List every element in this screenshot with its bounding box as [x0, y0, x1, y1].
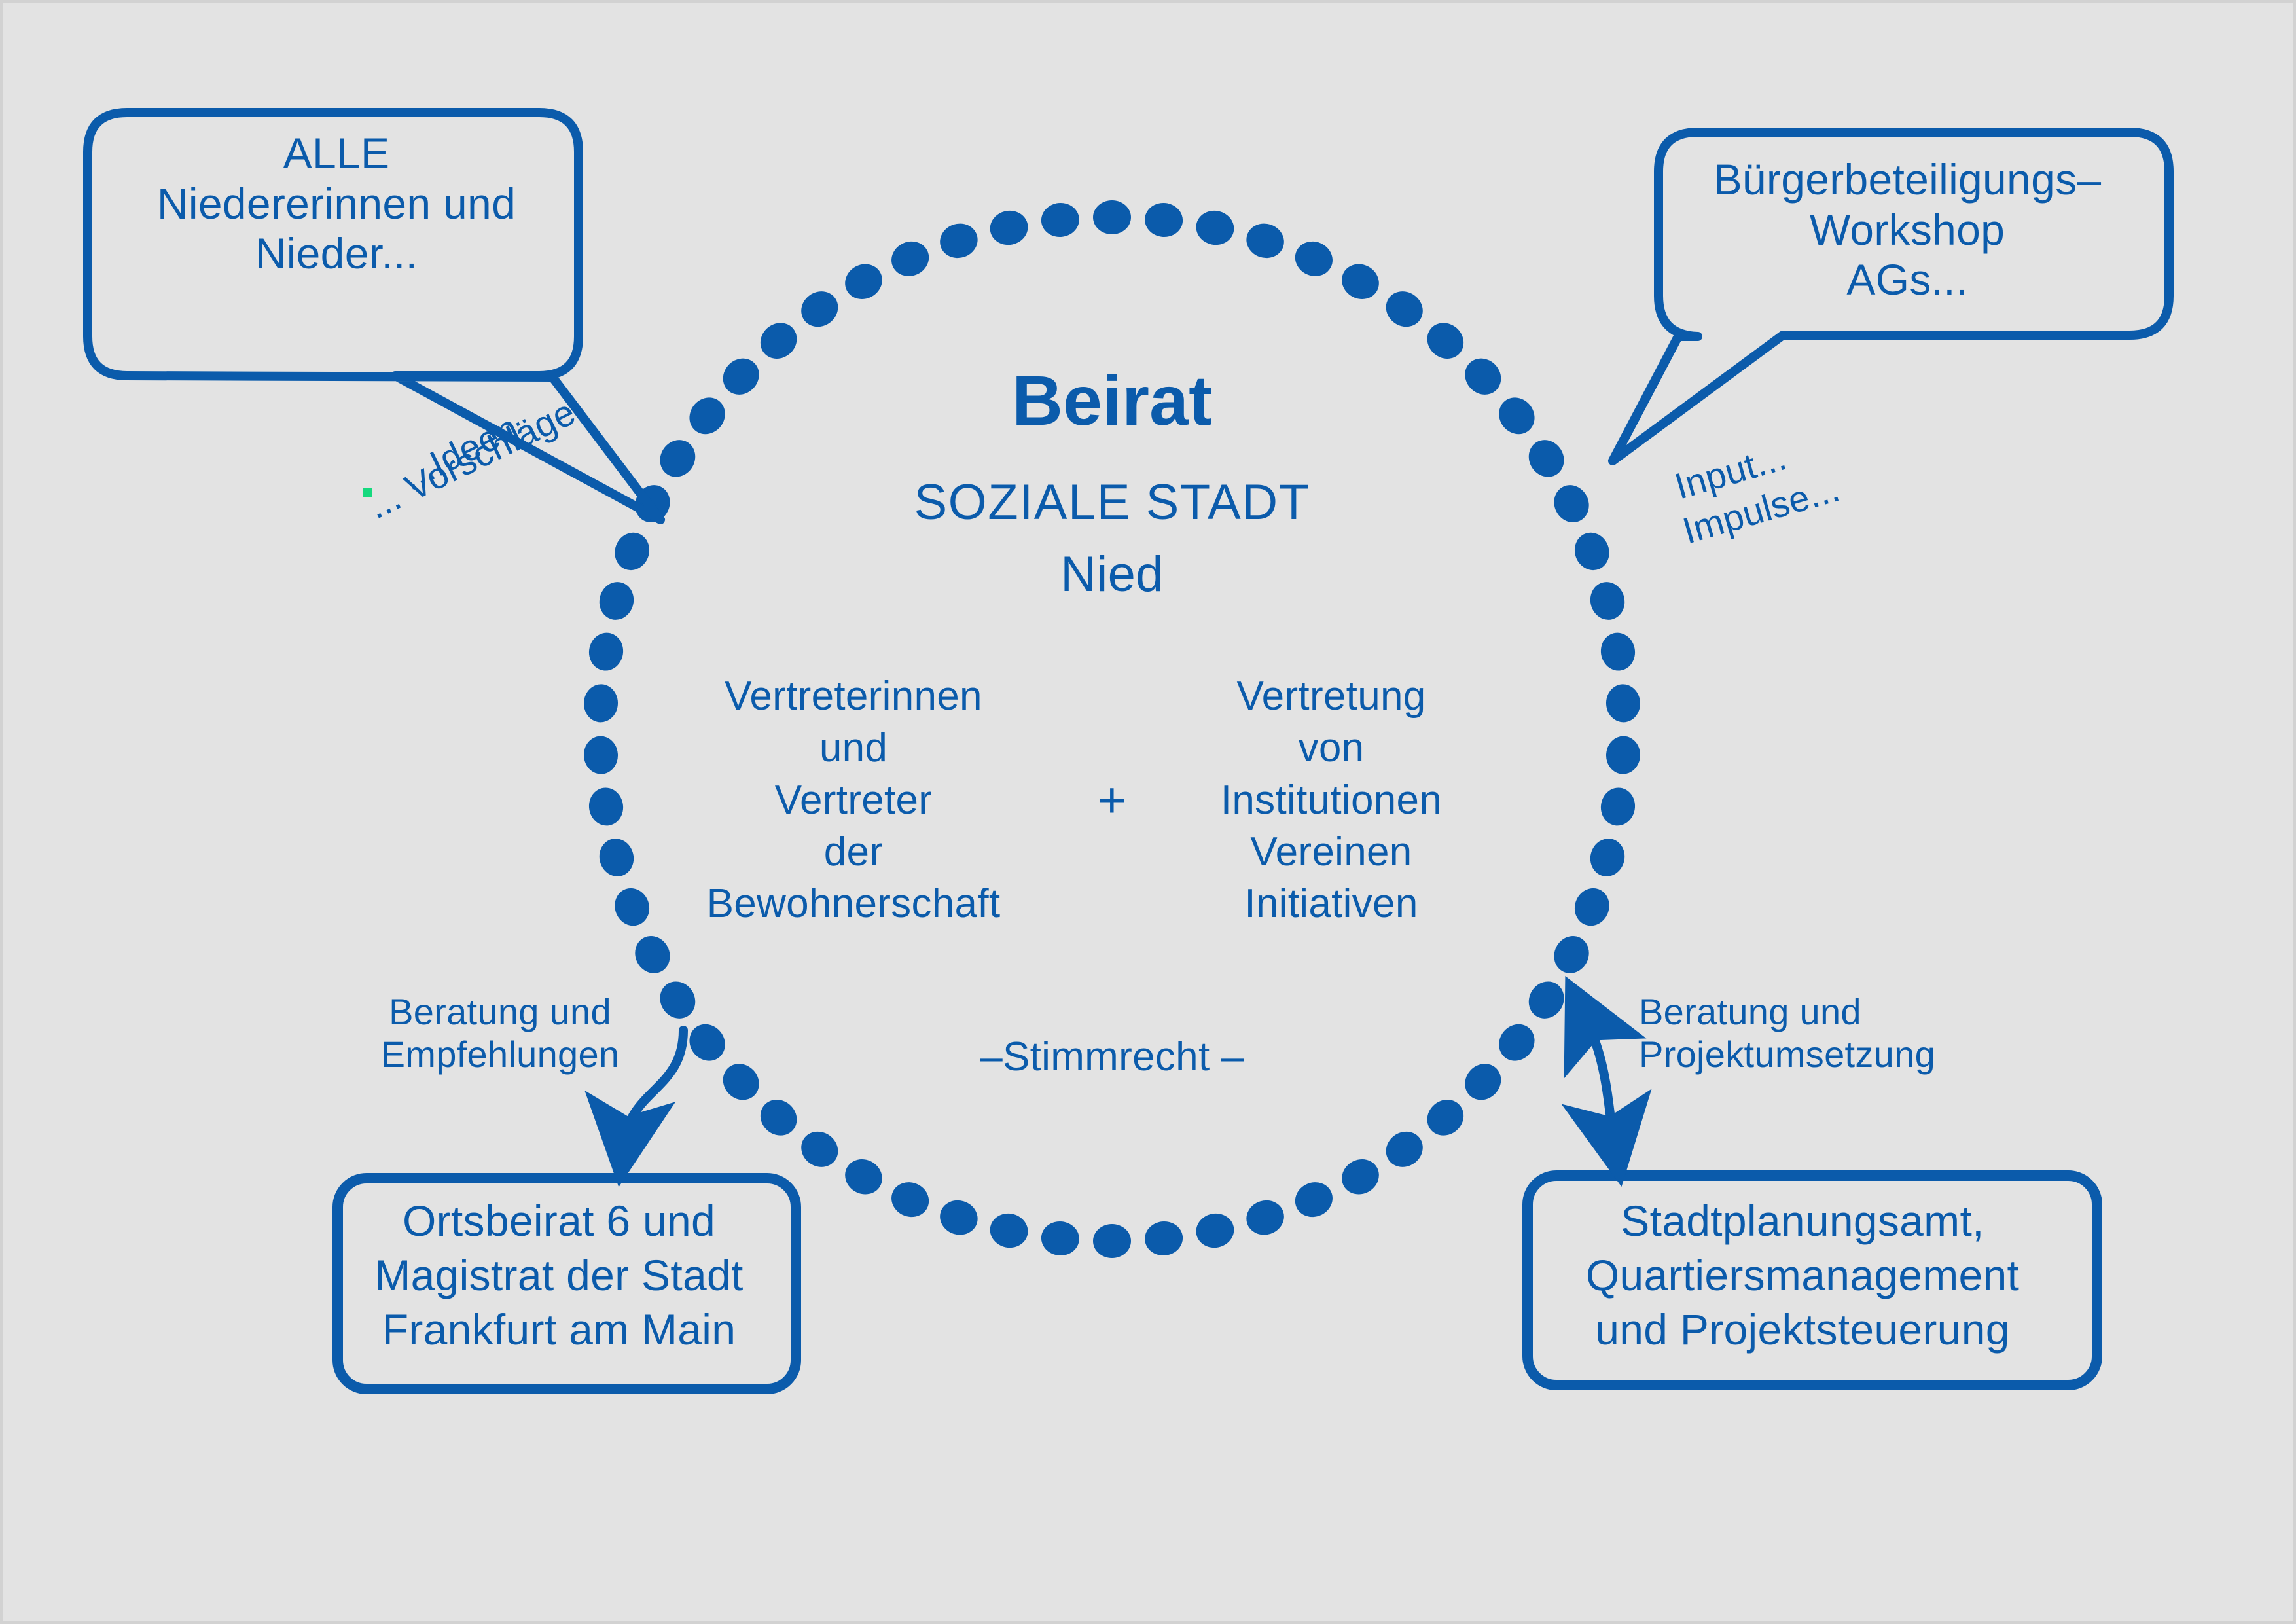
circle-dot	[1587, 578, 1629, 623]
circle-dot	[1420, 1092, 1471, 1143]
circle-column-left: Vertreterinnen und Vertreter der Bewohne…	[690, 670, 1017, 930]
circle-dot	[682, 1017, 732, 1068]
circle-dot	[586, 785, 626, 828]
circle-dot	[1242, 219, 1289, 262]
circle-dot	[1242, 1196, 1289, 1240]
circle-dot	[1093, 1224, 1131, 1258]
circle-dot	[715, 351, 766, 402]
plus-operator: +	[1063, 772, 1161, 829]
circle-dot	[1598, 630, 1638, 673]
circle-dot	[1039, 1219, 1081, 1257]
circle-dot	[653, 975, 702, 1025]
circle-dot	[753, 1092, 804, 1143]
circle-dot	[1570, 883, 1615, 930]
circle-dot	[1289, 1176, 1338, 1223]
circle-dot	[795, 284, 845, 334]
circle-dot	[583, 735, 619, 775]
arrow-right-label: Beratung und Projektumsetzung	[1639, 991, 1966, 1076]
circle-dot	[586, 630, 626, 673]
circle-dot	[795, 1125, 845, 1174]
circle-dot	[583, 683, 619, 723]
circle-dot	[682, 390, 732, 441]
circle-dot	[886, 236, 935, 282]
circle-dot	[1605, 735, 1641, 775]
arrow-left-label: Beratung und Empfehlungen	[359, 991, 641, 1076]
circle-dot	[1379, 284, 1429, 334]
speech-bubble-top-left-label: ALLE Niedererinnen und Nieder...	[101, 128, 572, 279]
diagram-canvas: ALLE Niedererinnen und Nieder... Bürgerb…	[0, 0, 2296, 1624]
circle-dot	[1492, 1017, 1542, 1068]
circle-dot	[935, 219, 982, 262]
circle-dot	[1193, 1210, 1237, 1252]
circle-dot	[1522, 433, 1571, 484]
circle-dot	[1458, 351, 1509, 402]
circle-dot	[1336, 1153, 1386, 1201]
circle-dot	[1492, 390, 1542, 441]
circle-dot	[596, 835, 638, 880]
circle-dot	[1548, 930, 1595, 979]
circle-dot	[1143, 1219, 1185, 1257]
circle-footer-stimmrecht: –Stimmrecht –	[916, 1034, 1308, 1081]
circle-dot	[715, 1056, 766, 1108]
circle-dot	[1143, 201, 1185, 239]
circle-dot	[1548, 479, 1595, 528]
circle-dot	[886, 1176, 935, 1223]
circle-subtitle-secondary: Nied	[785, 546, 1439, 604]
circle-dot	[1458, 1056, 1509, 1108]
box-bottom-left-label: Ortsbeirat 6 und Magistrat der Stadt Fra…	[330, 1194, 788, 1357]
circle-dot	[753, 316, 804, 366]
circle-dot	[1193, 208, 1237, 249]
circle-subtitle: SOZIALE STADT	[785, 474, 1439, 532]
circle-dot	[935, 1196, 982, 1240]
circle-dot	[987, 208, 1031, 249]
box-bottom-right-label: Stadtplanungsamt, Quartiersmanagement un…	[1521, 1194, 2084, 1357]
circle-dot	[1587, 835, 1629, 880]
circle-dot	[1420, 316, 1471, 366]
circle-column-right: Vertretung von Institutionen Vereinen In…	[1187, 670, 1475, 930]
circle-dot	[1605, 683, 1641, 723]
circle-dot	[596, 578, 638, 623]
circle-dot	[1570, 528, 1615, 575]
circle-dot	[609, 883, 655, 930]
circle-dot	[1522, 975, 1571, 1025]
circle-dot	[1093, 200, 1131, 234]
circle-dot	[839, 257, 889, 306]
circle-dot	[1379, 1125, 1429, 1174]
circle-dot	[1598, 785, 1638, 828]
circle-dot	[609, 528, 655, 575]
circle-title: Beirat	[785, 359, 1439, 441]
circle-dot	[1289, 236, 1338, 282]
circle-dot	[629, 930, 676, 979]
speech-bubble-top-right-label: Bürgerbeteiligungs– Workshop AGs...	[1665, 154, 2149, 305]
circle-dot	[987, 1210, 1031, 1252]
circle-dot	[839, 1153, 889, 1201]
circle-dot	[653, 433, 702, 484]
circle-dot	[1336, 257, 1386, 306]
arrow-right-advisory	[1585, 1017, 1614, 1142]
circle-dot	[1039, 201, 1081, 239]
